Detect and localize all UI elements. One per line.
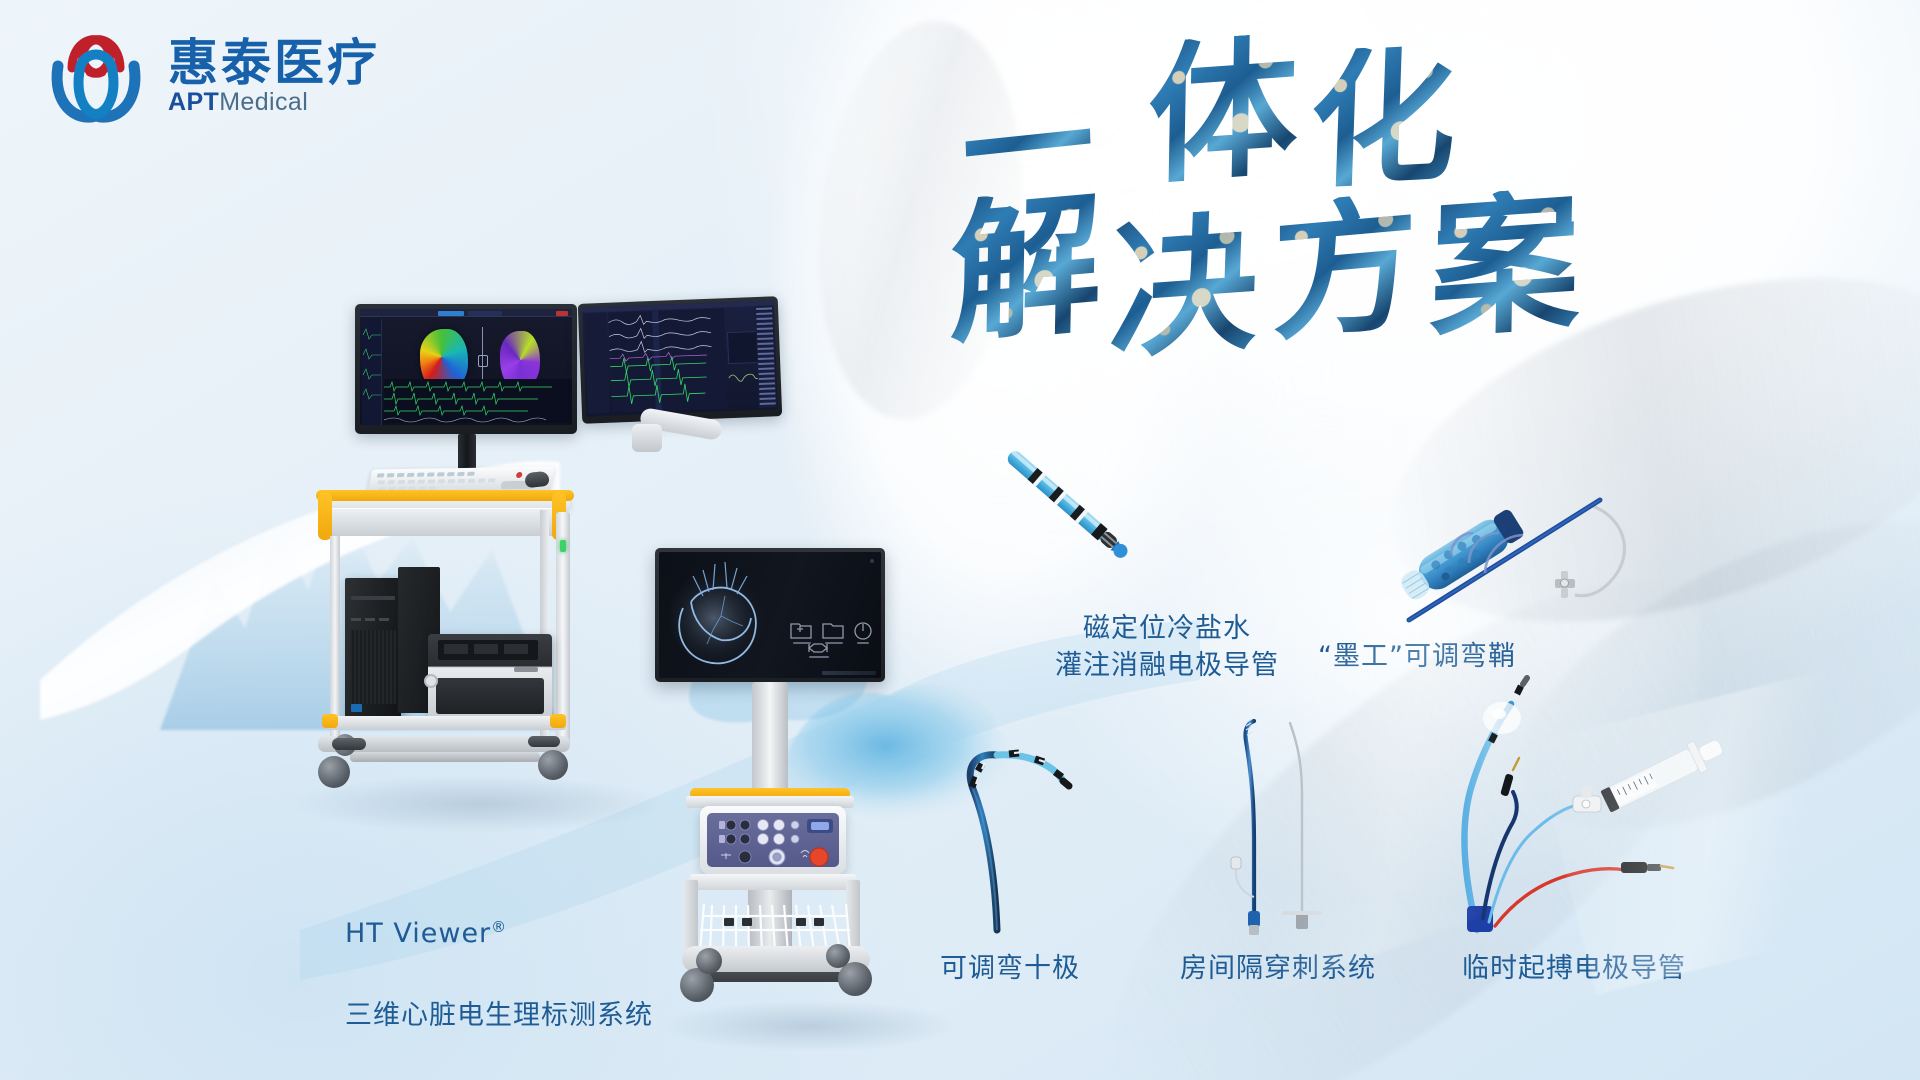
workstation-bottom-shelf bbox=[326, 716, 566, 730]
measurement-table-right bbox=[755, 305, 777, 408]
mapping-monitor-left[interactable] bbox=[355, 304, 577, 434]
monitor-screen-right bbox=[582, 300, 778, 416]
workstation-floor-shadow bbox=[290, 775, 670, 833]
monitor-arm-joint-right bbox=[632, 424, 662, 452]
brand-wordmark: 惠泰医疗 APTMedical bbox=[168, 38, 380, 115]
ecg-waterfall-left bbox=[384, 379, 572, 423]
console-side-panel-left bbox=[684, 880, 698, 956]
workstation-corner-yellow-left bbox=[318, 492, 332, 540]
system-subtitle: 三维心脏电生理标测系统 bbox=[345, 997, 653, 1034]
workstation-status-led bbox=[560, 540, 566, 552]
console-body bbox=[690, 874, 856, 890]
workstation-frame-left bbox=[330, 536, 340, 744]
console-display[interactable] bbox=[655, 548, 885, 682]
console-caster-rear-right bbox=[826, 944, 850, 968]
monitor-bezel-right bbox=[578, 296, 782, 424]
product-label-decapolar-catheter: 可调弯十极 bbox=[940, 950, 1080, 987]
brand-chinese-name: 惠泰医疗 bbox=[168, 38, 380, 88]
headline-char-6: 方 bbox=[1272, 190, 1417, 349]
headline-char-5: 决 bbox=[1108, 207, 1261, 366]
decapolar-catheter-image bbox=[935, 715, 1135, 935]
console-caster-rear-left bbox=[696, 948, 722, 974]
workstation-drawer[interactable] bbox=[326, 508, 566, 536]
workstation-handle-yellow[interactable] bbox=[316, 490, 574, 501]
heart-illustration bbox=[663, 556, 783, 674]
headline-calligraphy: 一 体 化 解 决 方 案 bbox=[960, 25, 1620, 355]
steerable-sheath-image bbox=[1385, 445, 1715, 625]
console-column bbox=[752, 682, 788, 800]
headline-char-3: 化 bbox=[1308, 43, 1459, 197]
brand-english-medical: Medical bbox=[219, 88, 308, 116]
workstation-caster-front-left bbox=[318, 756, 350, 788]
console-floor-shadow bbox=[660, 1000, 960, 1052]
headline-char-4: 解 bbox=[949, 186, 1103, 352]
brand-logo[interactable]: 惠泰医疗 APTMedical bbox=[42, 22, 380, 130]
monitor-screen-left bbox=[360, 309, 572, 425]
recording-monitor-right[interactable] bbox=[578, 296, 782, 424]
workstation-shelf-bumper-left bbox=[322, 714, 338, 728]
monitor-bezel-left bbox=[355, 304, 577, 434]
console-caster-front-right bbox=[838, 962, 872, 996]
system-trademark: ® bbox=[491, 918, 507, 936]
irrigated-ablation-catheter-image bbox=[985, 440, 1185, 600]
workstation-brake-pedal[interactable] bbox=[332, 738, 366, 750]
system-product-name: HT Viewer bbox=[345, 918, 491, 949]
headline-char-2: 体 bbox=[1147, 31, 1299, 192]
workstation-brake-pedal-right[interactable] bbox=[528, 736, 560, 747]
ecg-traces-right bbox=[608, 308, 728, 412]
workstation-shelf-bumper-right bbox=[550, 714, 566, 728]
product-label-irrigated-ablation-catheter: 磁定位冷盐水 灌注消融电极导管 bbox=[1055, 610, 1279, 685]
headline-char-7: 案 bbox=[1429, 185, 1581, 346]
brand-english-name: APTMedical bbox=[168, 90, 380, 115]
console-connector-panel[interactable] bbox=[707, 813, 839, 867]
console-control-box[interactable] bbox=[700, 806, 846, 874]
workstation-caster-front-right bbox=[538, 750, 568, 780]
poster-canvas: 惠泰医疗 APTMedical 一 体 化 解 决 方 案 bbox=[0, 0, 1920, 1080]
console-menu-icons[interactable] bbox=[787, 614, 879, 662]
console-screen-watermark bbox=[822, 671, 876, 675]
workstation-printer bbox=[428, 634, 552, 718]
system-label: HT Viewer® 三维心脏电生理标测系统 bbox=[345, 840, 653, 1072]
workstation-pc-tower bbox=[345, 578, 401, 718]
brand-english-apt: APT bbox=[168, 88, 219, 116]
console-screen bbox=[659, 552, 881, 678]
workstation-base-crossbar bbox=[350, 752, 540, 762]
apt-medical-loop-logo-icon bbox=[42, 22, 150, 130]
